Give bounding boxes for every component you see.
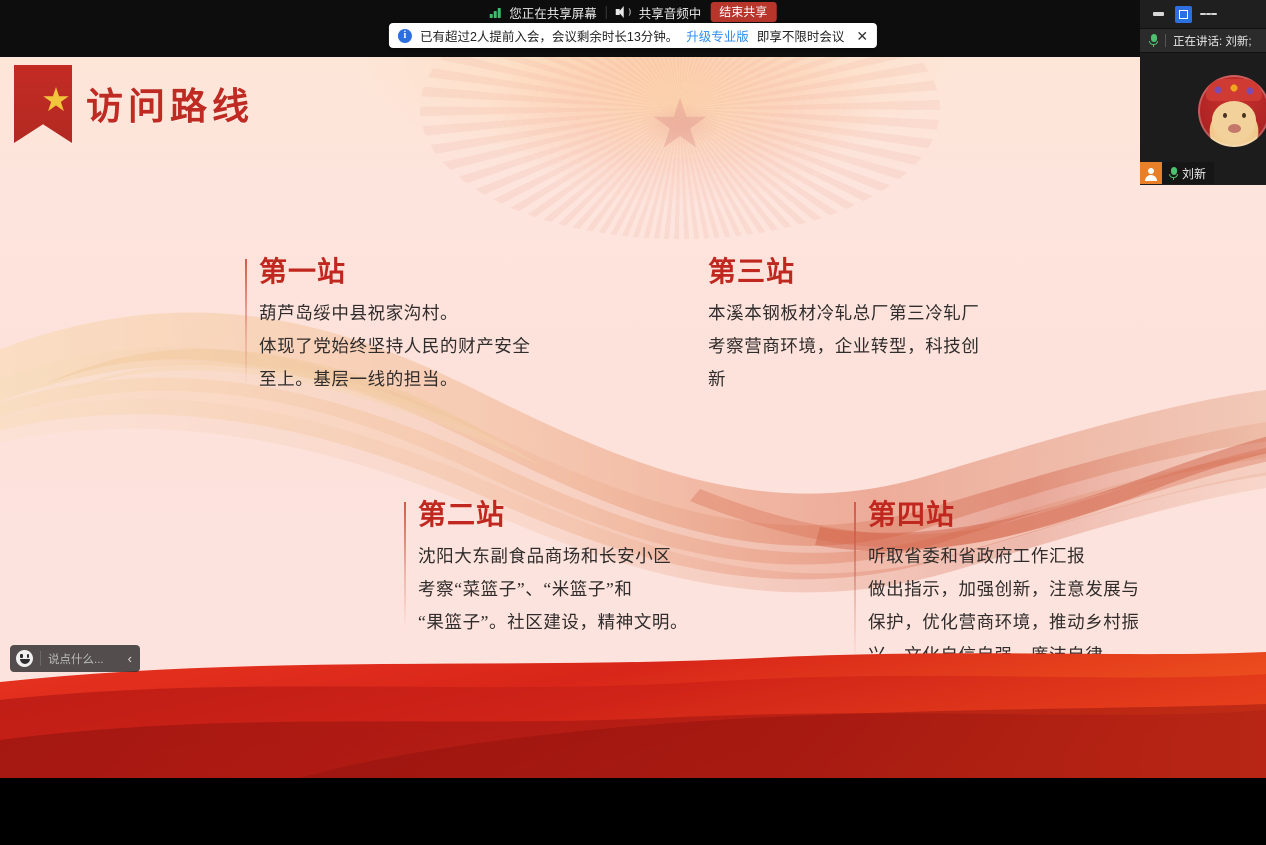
station-4-line-2: 做出指示，加强创新，注意发展与 (868, 573, 1194, 606)
chat-input-bar[interactable]: 说点什么... ‹ (10, 645, 140, 672)
participant-panel: 正在讲话: 刘新; 刘新 (1140, 0, 1266, 185)
minimize-icon[interactable] (1150, 6, 1167, 23)
strip-divider (606, 6, 607, 19)
station-1-line-3: 至上。基层一线的担当。 (259, 363, 575, 396)
window-controls (1140, 0, 1266, 28)
app-window: 访问路线 第一站 葫芦岛绥中县祝家沟村。 体现了党始终坚持人民的财产安全 至上。… (0, 0, 1266, 845)
station-3-line-3: 新 (708, 363, 1024, 396)
station-2-line-3: “果篮子”。社区建设，精神文明。 (418, 606, 744, 639)
shared-screen-slide: 访问路线 第一站 葫芦岛绥中县祝家沟村。 体现了党始终坚持人民的财产安全 至上。… (0, 57, 1266, 778)
station-4-line-3: 保护，优化营商环境，推动乡村振 (868, 606, 1194, 639)
station-1-line-1: 葫芦岛绥中县祝家沟村。 (259, 297, 575, 330)
station-block-4: 第四站 听取省委和省政府工作汇报 做出指示，加强创新，注意发展与 保护，优化营商… (854, 498, 1194, 672)
station-4-line-1: 听取省委和省政府工作汇报 (868, 540, 1194, 573)
notice-text-after: 即享不限时会议 (757, 26, 845, 45)
station-2-line-1: 沈阳大东副食品商场和长安小区 (418, 540, 744, 573)
station-4-heading: 第四站 (868, 498, 1194, 533)
speaking-label: 正在讲话: 刘新; (1173, 33, 1252, 49)
station-2-heading: 第二站 (418, 498, 744, 533)
station-block-3: 第三站 本溪本钢板材冷轧总厂第三冷轧厂 考察营商环境，企业转型，科技创 新 (694, 255, 1024, 396)
notice-text-before: 已有超过2人提前入会，会议剩余时长13分钟。 (420, 26, 678, 45)
emoji-smiley-icon[interactable] (16, 650, 33, 667)
station-3-heading: 第三站 (708, 255, 1024, 290)
speaking-divider (1165, 34, 1166, 47)
participant-video-tile[interactable]: 刘新 (1140, 53, 1266, 184)
sunburst-decoration (420, 57, 940, 239)
restore-window-icon[interactable] (1175, 6, 1192, 23)
list-menu-icon[interactable] (1200, 6, 1217, 23)
upgrade-pro-link[interactable]: 升级专业版 (686, 26, 749, 45)
speaker-audio-icon (616, 6, 630, 18)
station-1-heading: 第一站 (259, 255, 575, 290)
station-3-line-2: 考察营商环境，企业转型，科技创 (708, 330, 1024, 363)
station-block-2: 第二站 沈阳大东副食品商场和长安小区 考察“菜篮子”、“米篮子”和 “果篮子”。… (404, 498, 744, 639)
decorative-star-icon (653, 98, 707, 152)
station-block-1: 第一站 葫芦岛绥中县祝家沟村。 体现了党始终坚持人民的财产安全 至上。基层一线的… (245, 255, 575, 396)
participant-name: 刘新 (1182, 165, 1214, 182)
cartoon-bear-avatar (1198, 75, 1266, 147)
info-circle-icon: i (398, 29, 412, 43)
sharing-audio-label: 共享音频中 (639, 3, 702, 22)
station-3-line-1: 本溪本钢板材冷轧总厂第三冷轧厂 (708, 297, 1024, 330)
title-banner (14, 65, 72, 143)
station-2-line-2: 考察“菜篮子”、“米篮子”和 (418, 573, 744, 606)
close-icon[interactable]: ✕ (856, 29, 868, 43)
end-share-button[interactable]: 结束共享 (710, 2, 776, 22)
speaking-status-row: 正在讲话: 刘新; (1140, 28, 1266, 53)
participant-icon (1140, 162, 1162, 184)
slide-title: 访问路线 (86, 76, 254, 130)
microphone-icon (1169, 167, 1178, 180)
station-1-line-2: 体现了党始终坚持人民的财产安全 (259, 330, 575, 363)
signal-bars-icon (490, 7, 501, 18)
sharing-screen-label: 您正在共享屏幕 (509, 3, 597, 22)
chat-divider (40, 651, 41, 666)
red-silk-decoration (0, 648, 1266, 778)
chevron-left-icon[interactable]: ‹ (122, 651, 140, 666)
microphone-icon (1149, 34, 1158, 47)
share-status-strip: 您正在共享屏幕 共享音频中 结束共享 (490, 2, 777, 22)
chat-input-placeholder[interactable]: 说点什么... (48, 651, 122, 667)
screen-share-topbar: 您正在共享屏幕 共享音频中 结束共享 i 已有超过2人提前入会，会议剩余时长13… (0, 0, 1266, 57)
meeting-limit-notice: i 已有超过2人提前入会，会议剩余时长13分钟。 升级专业版 即享不限时会议 ✕ (389, 23, 877, 48)
participant-name-badge: 刘新 (1140, 162, 1214, 184)
